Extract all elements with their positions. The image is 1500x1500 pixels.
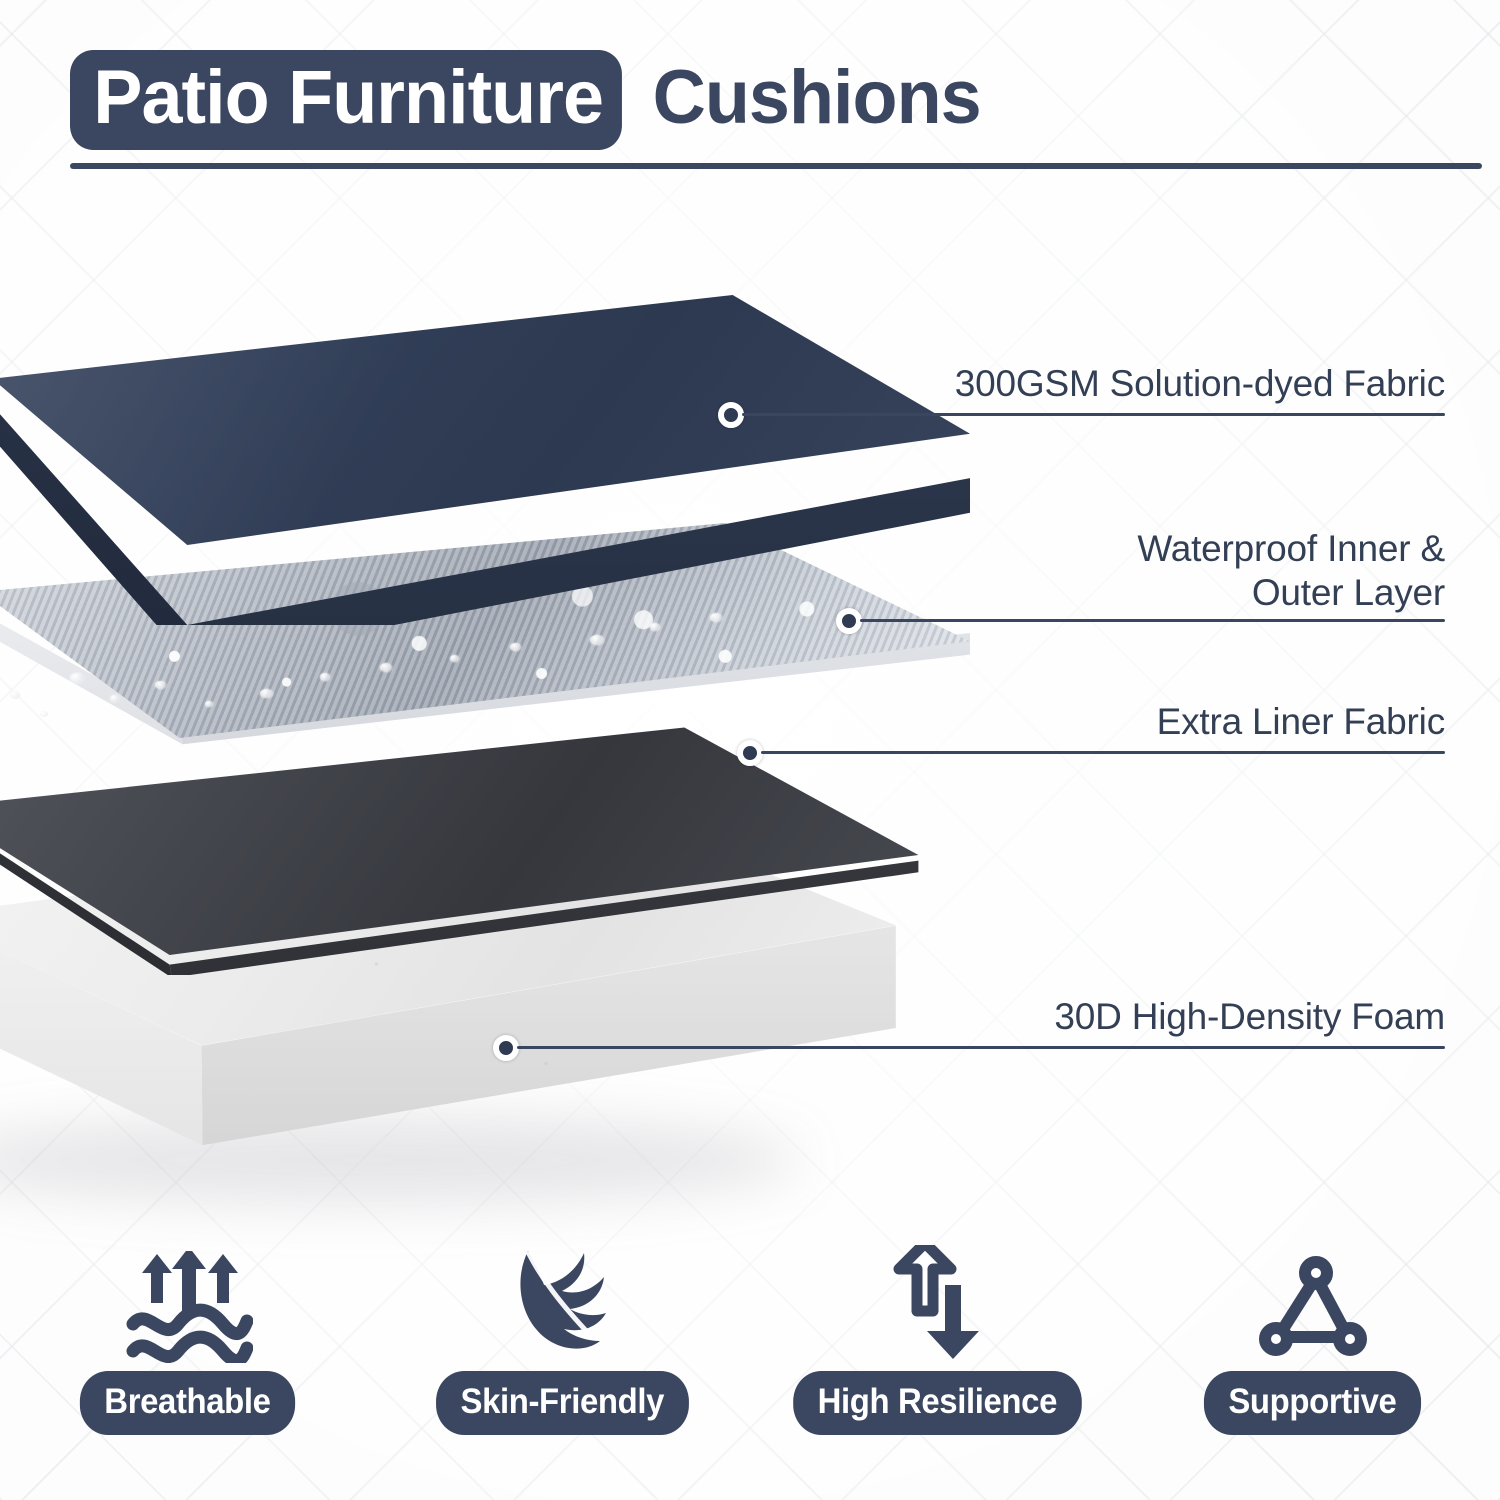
- water-droplet: [110, 695, 119, 702]
- callout-leader-foam: [517, 1046, 1445, 1049]
- callout-label-liner: Extra Liner Fabric: [745, 700, 1445, 744]
- feature-label-breathable: Breathable: [80, 1371, 295, 1435]
- page-header: Patio Furniture Cushions: [0, 0, 1500, 185]
- water-droplet: [10, 691, 20, 699]
- feature-skin-friendly[interactable]: Skin-Friendly: [375, 1245, 750, 1475]
- title-underline-rule: [70, 163, 1482, 169]
- callout-leader-fabric: [742, 413, 1445, 416]
- airflow-waves-icon: [123, 1245, 253, 1363]
- callout-dot-fabric: [718, 402, 744, 428]
- feather-icon: [498, 1245, 628, 1363]
- infographic-stage: Patio Furniture Cushions: [0, 0, 1500, 1500]
- feature-breathable[interactable]: Breathable: [0, 1245, 375, 1475]
- water-droplet: [320, 673, 330, 681]
- water-droplet: [260, 689, 273, 698]
- title-highlight-badge: Patio Furniture: [70, 50, 622, 150]
- callout-label-fabric: 300GSM Solution-dyed Fabric: [745, 362, 1445, 406]
- up-down-arrows-icon: [883, 1245, 993, 1363]
- callout-label-waterproof: Waterproof Inner & Outer Layer: [745, 527, 1445, 614]
- callout-dot-liner: [737, 740, 763, 766]
- water-droplet: [590, 635, 604, 645]
- callout-dot-foam: [493, 1035, 519, 1061]
- water-droplet: [40, 711, 48, 717]
- callout-leader-waterproof: [860, 619, 1445, 622]
- water-droplet: [510, 643, 521, 651]
- feature-label-supportive: Supportive: [1204, 1371, 1421, 1435]
- water-droplet: [450, 655, 459, 662]
- foam-contact-shadow: [0, 1115, 800, 1205]
- callout-leader-liner: [761, 751, 1445, 754]
- callout-label-foam: 30D High-Density Foam: [745, 995, 1445, 1039]
- feature-supportive[interactable]: Supportive: [1125, 1245, 1500, 1475]
- triangle-nodes-icon: [1254, 1245, 1372, 1363]
- water-droplet: [155, 681, 166, 689]
- feature-label-high-resilience: High Resilience: [793, 1371, 1081, 1435]
- feature-badge-row: Breathable Skin-Friendly: [0, 1245, 1500, 1475]
- feature-label-skin-friendly: Skin-Friendly: [436, 1371, 688, 1435]
- title-plain-text: Cushions: [639, 60, 981, 140]
- water-droplet: [205, 701, 213, 707]
- page-title: Patio Furniture Cushions: [70, 50, 992, 150]
- feature-high-resilience[interactable]: High Resilience: [750, 1245, 1125, 1475]
- water-droplet: [70, 673, 84, 683]
- water-droplet: [380, 663, 392, 672]
